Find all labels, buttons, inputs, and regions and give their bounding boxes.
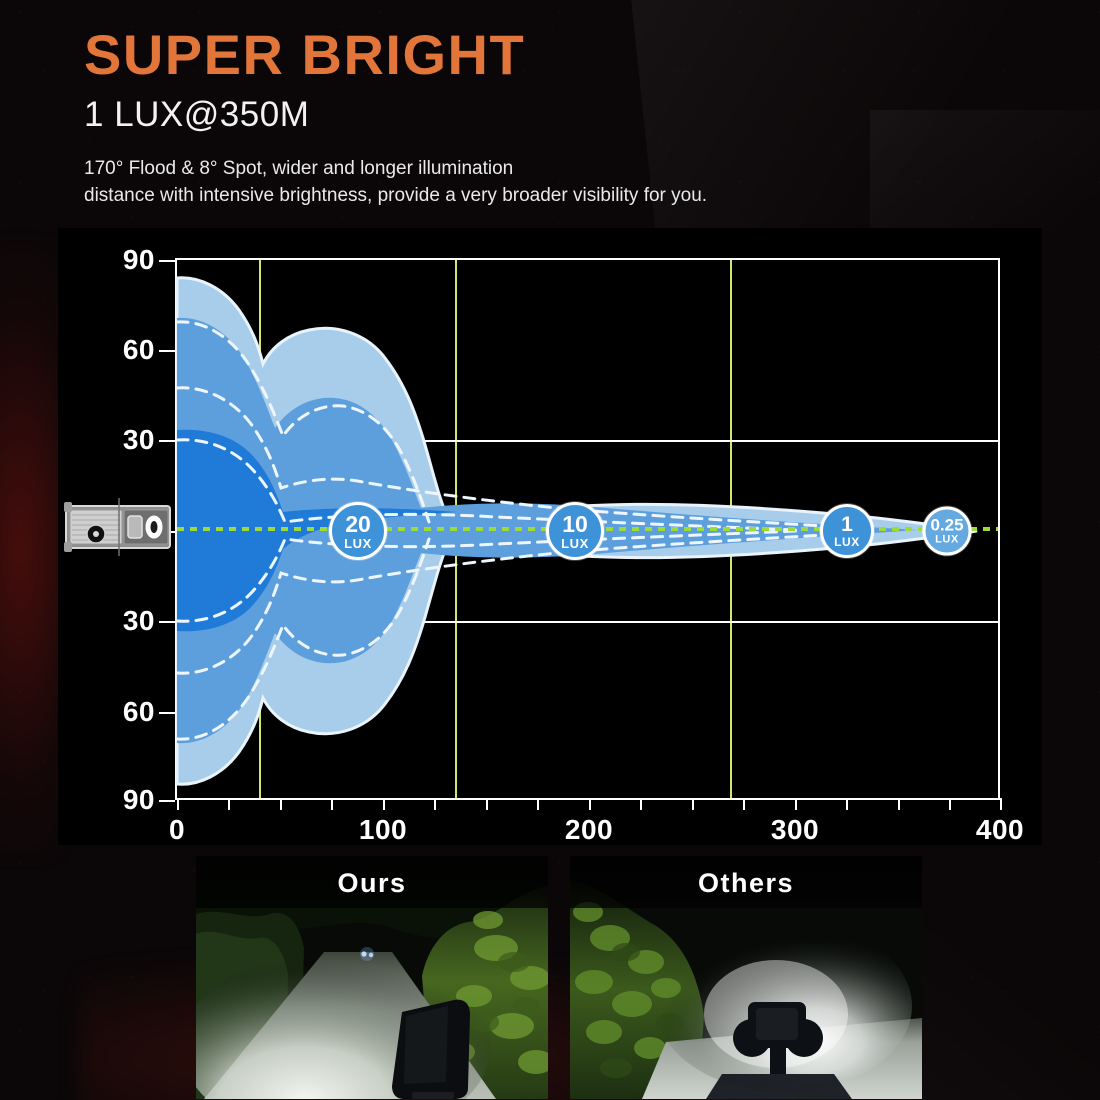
page-title: SUPER BRIGHT	[84, 26, 984, 85]
photo-ours-caption: Ours	[196, 868, 548, 899]
y-tick-90-bottom	[159, 800, 175, 802]
lux-marker-025-unit: LUX	[935, 535, 959, 546]
description-line-1: 170° Flood & 8° Spot, wider and longer i…	[84, 155, 984, 183]
lux-marker-025-value: 0.25	[930, 517, 963, 534]
y-axis-label-30-top: 30	[99, 424, 155, 456]
description-line-2: distance with intensive brightness, prov…	[84, 182, 984, 210]
x-axis-label-100: 100	[359, 814, 407, 846]
x-tick-50	[280, 798, 282, 810]
x-tick-350	[898, 798, 900, 810]
x-tick-325	[846, 798, 848, 810]
y-tick-60-bottom	[159, 712, 175, 714]
x-tick-125	[434, 798, 436, 810]
headline-block: SUPER BRIGHT 1 LUX@350M 170° Flood & 8° …	[84, 26, 984, 210]
lux-marker-10-unit: LUX	[561, 537, 589, 550]
x-tick-200	[589, 798, 591, 810]
x-axis-label-0: 0	[169, 814, 185, 846]
lux-marker-1-unit: LUX	[834, 536, 860, 548]
x-tick-100	[383, 798, 385, 810]
lux-marker-025: 0.25 LUX	[923, 507, 972, 556]
y-tick-90-top	[159, 260, 175, 262]
lux-marker-1: 1 LUX	[820, 504, 874, 558]
x-tick-275	[743, 798, 745, 810]
y-axis-label-60-top: 60	[99, 334, 155, 366]
x-tick-250	[692, 798, 694, 810]
comparison-photo-ours: Ours	[196, 856, 548, 1099]
x-tick-75	[331, 798, 333, 810]
description-text: 170° Flood & 8° Spot, wider and longer i…	[84, 155, 984, 210]
x-tick-375	[949, 798, 951, 810]
lux-marker-10-value: 10	[562, 513, 588, 536]
x-tick-150	[486, 798, 488, 810]
y-tick-30-top	[159, 440, 175, 442]
x-tick-300	[795, 798, 797, 810]
x-tick-400	[1000, 798, 1002, 810]
y-tick-60-top	[159, 350, 175, 352]
y-axis-label-90-bottom: 90	[99, 784, 155, 816]
lux-marker-20: 20 LUX	[329, 502, 387, 560]
x-axis-label-300: 300	[771, 814, 819, 846]
lux-marker-1-value: 1	[841, 514, 853, 535]
beam-pattern-chart: 20 LUX 10 LUX 1 LUX 0.25 LUX 90 60 30 0 …	[58, 228, 1042, 845]
y-axis-label-90-top: 90	[99, 244, 155, 276]
x-axis-label-400: 400	[976, 814, 1024, 846]
lux-marker-10: 10 LUX	[546, 502, 604, 560]
x-tick-175	[537, 798, 539, 810]
led-light-bar-icon	[64, 498, 174, 556]
x-tick-25	[228, 798, 230, 810]
y-axis-label-30-bottom: 30	[99, 605, 155, 637]
lux-marker-20-unit: LUX	[344, 537, 372, 550]
photo-others-caption: Others	[570, 868, 922, 899]
y-tick-30-bottom	[159, 621, 175, 623]
chart-plot-area: 20 LUX 10 LUX 1 LUX 0.25 LUX 90 60 30 0 …	[175, 258, 1000, 800]
y-axis-label-60-bottom: 60	[99, 696, 155, 728]
lux-marker-20-value: 20	[345, 513, 371, 536]
comparison-photo-others: Others	[570, 856, 922, 1099]
x-axis-label-200: 200	[565, 814, 613, 846]
x-tick-225	[640, 798, 642, 810]
page-subtitle: 1 LUX@350M	[84, 95, 984, 135]
x-tick-0	[177, 798, 179, 810]
